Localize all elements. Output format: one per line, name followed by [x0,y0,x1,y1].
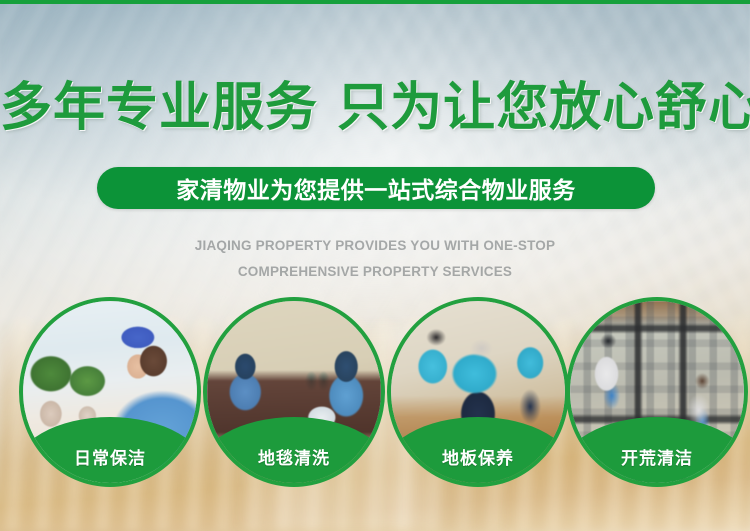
english-subtitle: JIAQING PROPERTY PROVIDES YOU WITH ONE-S… [0,233,750,285]
tagline-text: 家清物业为您提供一站式综合物业服务 [176,171,576,205]
service-label-floor-maintenance: 地板保养 [391,444,565,469]
service-label-post-construction-cleaning: 开荒清洁 [570,444,744,469]
service-circle-row: 日常保洁 地毯清洗 地板保养 开荒清洁 [0,297,750,489]
service-circle-carpet-cleaning[interactable]: 地毯清洗 [203,297,385,487]
service-label-daily-cleaning: 日常保洁 [23,444,197,469]
english-subtitle-line-2: COMPREHENSIVE PROPERTY SERVICES [0,259,750,285]
service-label-carpet-cleaning: 地毯清洗 [207,444,381,469]
tagline-pill: 家清物业为您提供一站式综合物业服务 [97,167,655,209]
service-circle-daily-cleaning[interactable]: 日常保洁 [19,297,201,487]
page-title: 多年专业服务 只为让您放心舒心 [0,82,750,134]
service-circle-post-construction-cleaning[interactable]: 开荒清洁 [566,297,748,487]
promo-banner: 多年专业服务 只为让您放心舒心 家清物业为您提供一站式综合物业服务 JIAQIN… [0,0,750,531]
english-subtitle-line-1: JIAQING PROPERTY PROVIDES YOU WITH ONE-S… [0,233,750,259]
top-green-rule [0,0,750,4]
service-circle-floor-maintenance[interactable]: 地板保养 [387,297,569,487]
